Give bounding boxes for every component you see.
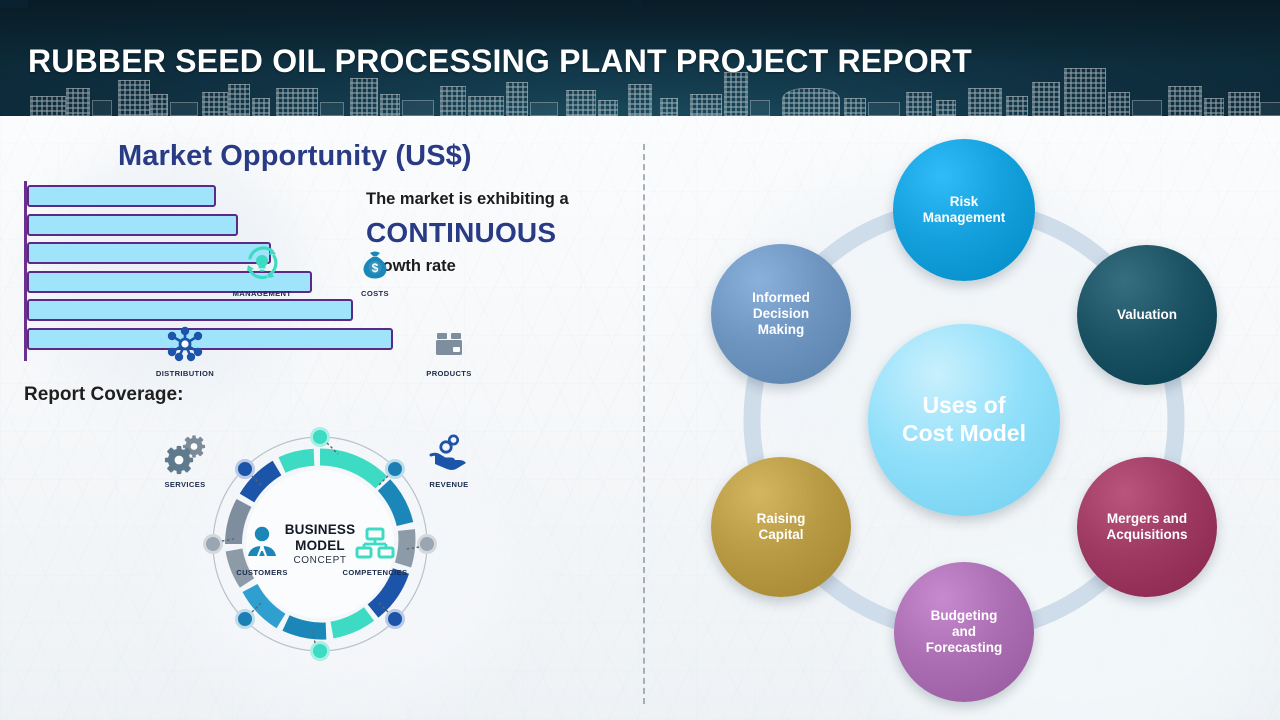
business-model-infographic: BUSINESS MODEL CONCEPT bbox=[140, 364, 500, 720]
coverage-label-distribution: DISTRIBUTION bbox=[142, 369, 228, 378]
wheel-node-raising-capital[interactable]: RaisingCapital bbox=[711, 457, 851, 597]
coverage-label-customers: CUSTOMERS bbox=[219, 568, 305, 577]
coverage-item-competencies[interactable]: COMPETENCIES bbox=[332, 521, 418, 577]
wheel-center-node[interactable]: Uses ofCost Model bbox=[868, 324, 1060, 516]
coverage-item-services[interactable]: SERVICES bbox=[142, 433, 228, 489]
coverage-label-revenue: REVENUE bbox=[406, 480, 492, 489]
wheel-node-label: RiskManagement bbox=[913, 194, 1016, 226]
coverage-item-management[interactable]: MANAGEMENT bbox=[219, 242, 305, 298]
coverage-label-management: MANAGEMENT bbox=[219, 289, 305, 298]
wheel-node-label: Valuation bbox=[1107, 307, 1187, 323]
money-bag-icon: $ bbox=[332, 242, 418, 284]
gears-icon bbox=[142, 433, 228, 475]
coverage-label-competencies: COMPETENCIES bbox=[332, 568, 418, 577]
growth-line-1: The market is exhibiting a bbox=[366, 189, 636, 210]
lightbulb-recycle-icon bbox=[219, 242, 305, 284]
hand-coins-icon bbox=[406, 433, 492, 475]
wheel-node-label: InformedDecisionMaking bbox=[742, 290, 820, 339]
wheel-node-valuation[interactable]: Valuation bbox=[1077, 245, 1217, 385]
page-title: RUBBER SEED OIL PROCESSING PLANT PROJECT… bbox=[28, 43, 972, 80]
header-mid-accent bbox=[632, 0, 642, 10]
package-box-icon bbox=[406, 322, 492, 364]
coverage-label-services: SERVICES bbox=[142, 480, 228, 489]
coverage-item-products[interactable]: PRODUCTS bbox=[406, 322, 492, 378]
chart-bar bbox=[27, 214, 238, 236]
wheel-node-risk-management[interactable]: RiskManagement bbox=[893, 139, 1035, 281]
coverage-label-costs: COSTS bbox=[332, 289, 418, 298]
header-corner-accent bbox=[0, 0, 28, 8]
coverage-item-customers[interactable]: CUSTOMERS bbox=[219, 521, 305, 577]
wheel-node-label: RaisingCapital bbox=[747, 511, 816, 543]
coverage-item-revenue[interactable]: REVENUE bbox=[406, 433, 492, 489]
wheel-node-mergers-and-acquisitions[interactable]: Mergers andAcquisitions bbox=[1077, 457, 1217, 597]
svg-text:$: $ bbox=[372, 261, 379, 275]
coverage-item-costs[interactable]: $ COSTS bbox=[332, 242, 418, 298]
org-chart-icon bbox=[332, 521, 418, 563]
chart-bar bbox=[27, 185, 216, 207]
network-nodes-icon bbox=[142, 322, 228, 364]
coverage-item-distribution[interactable]: DISTRIBUTION bbox=[142, 322, 228, 378]
content-area: Market Opportunity (US$) The market is e… bbox=[0, 116, 1280, 720]
wheel-node-informed-decision-making[interactable]: InformedDecisionMaking bbox=[711, 244, 851, 384]
people-icon bbox=[219, 521, 305, 563]
uses-of-cost-model-diagram: RiskManagementValuationMergers andAcquis… bbox=[644, 116, 1280, 720]
coverage-label-products: PRODUCTS bbox=[406, 369, 492, 378]
header-banner: RUBBER SEED OIL PROCESSING PLANT PROJECT… bbox=[0, 0, 1280, 116]
wheel-center-label: Uses ofCost Model bbox=[892, 392, 1036, 447]
slide: RUBBER SEED OIL PROCESSING PLANT PROJECT… bbox=[0, 0, 1280, 720]
chart-bar bbox=[27, 299, 353, 321]
market-opportunity-title: Market Opportunity (US$) bbox=[118, 140, 472, 173]
wheel-node-label: BudgetingandForecasting bbox=[916, 608, 1013, 657]
wheel-node-label: Mergers andAcquisitions bbox=[1096, 511, 1197, 543]
wheel-node-budgeting-and-forecasting[interactable]: BudgetingandForecasting bbox=[894, 562, 1034, 702]
